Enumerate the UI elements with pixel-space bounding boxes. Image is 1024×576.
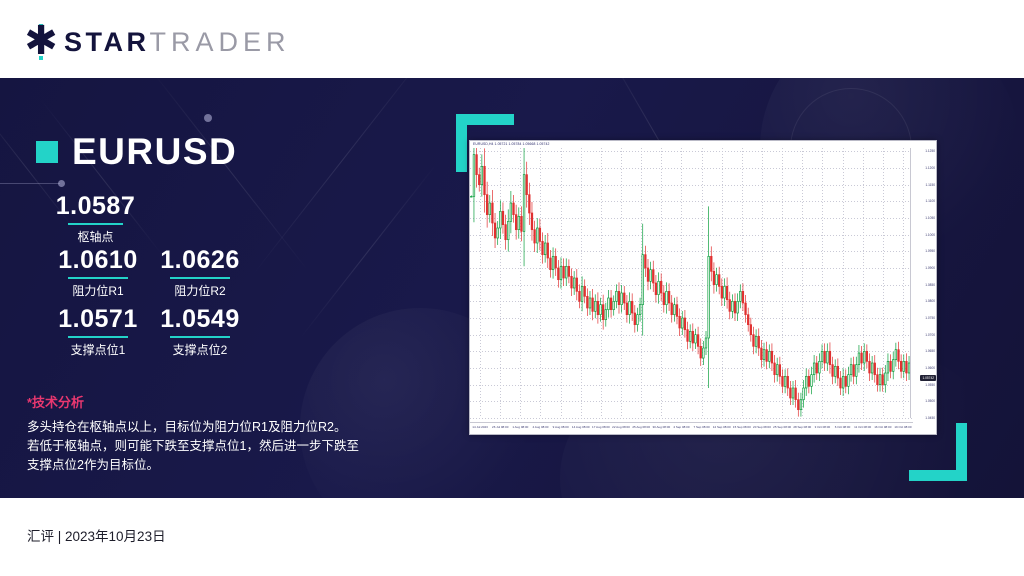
chart-time-tick: 6 Oct 08:00 xyxy=(835,425,851,429)
chart-title: EURUSD,H4 1.05721 1.05784 1.05668 1.0574… xyxy=(473,142,550,146)
chart-time-tick: 25 Sep 08:00 xyxy=(773,425,791,429)
chart-price-tick: 1.0500 xyxy=(925,399,935,403)
decor-streak xyxy=(250,78,435,279)
header-bar: ✱ STAR TRADER xyxy=(0,0,1024,78)
price-chart-window[interactable]: EURUSD,H4 1.05721 1.05784 1.05668 1.0574… xyxy=(469,140,937,435)
asterisk-star-icon: ✱ xyxy=(24,25,58,59)
chart-price-tick: 1.0750 xyxy=(925,316,935,320)
level-s1-value: 1.0571 xyxy=(43,305,153,334)
chart-time-tick: 22 Aug 08:00 xyxy=(612,425,630,429)
analysis-line-3: 支撑点位2作为目标位。 xyxy=(27,456,407,475)
level-support-2: 1.0549 支撑点位2 xyxy=(145,305,255,358)
chart-price-tick: 1.0850 xyxy=(925,283,935,287)
level-underline xyxy=(68,336,128,338)
chart-price-tick: 1.1200 xyxy=(925,166,935,170)
level-r1-label: 阻力位R1 xyxy=(43,282,153,299)
chart-time-tick: 17 Aug 08:00 xyxy=(592,425,610,429)
level-r2-label: 阻力位R2 xyxy=(145,282,255,299)
instrument-heading: EURUSD xyxy=(36,133,237,170)
chart-price-tick: 1.1250 xyxy=(925,149,935,153)
level-pivot-value: 1.0587 xyxy=(38,192,153,221)
chart-time-tick: 4 Sep 08:00 xyxy=(673,425,689,429)
chart-time-tick: 1 Aug 08:00 xyxy=(512,425,528,429)
chart-time-tick: 25 Aug 08:00 xyxy=(632,425,650,429)
chart-price-axis[interactable]: 1.12501.12001.11501.11001.10501.10001.09… xyxy=(910,148,936,418)
chart-price-tick: 1.1000 xyxy=(925,233,935,237)
decor-streak xyxy=(150,78,311,274)
chart-time-tick: 9 Aug 08:00 xyxy=(553,425,569,429)
chart-price-tick: 1.1050 xyxy=(925,216,935,220)
chart-time-tick: 12 Sep 08:00 xyxy=(713,425,731,429)
chart-time-tick: 11 Oct 08:00 xyxy=(854,425,871,429)
chart-time-tick: 14 Jul 2023 xyxy=(472,425,488,429)
decor-dot xyxy=(204,114,212,122)
level-support-1: 1.0571 支撑点位1 xyxy=(43,305,153,358)
chart-time-tick: 16 Oct 08:00 xyxy=(874,425,891,429)
chart-current-price-tag: 1.05742 xyxy=(920,375,936,381)
chart-price-tick: 1.0450 xyxy=(925,416,935,420)
chart-price-tick: 1.0800 xyxy=(925,299,935,303)
chart-time-tick: 20 Sep 08:00 xyxy=(753,425,771,429)
chart-time-tick: 28 Sep 08:00 xyxy=(793,425,811,429)
corner-bracket-bottomright-horizontal xyxy=(909,470,967,481)
decor-hairline xyxy=(0,183,60,184)
chart-gridline-horizontal xyxy=(470,418,913,419)
level-pivot-label: 枢轴点 xyxy=(38,228,153,245)
asterisk-glyph: ✱ xyxy=(24,25,58,59)
level-underline xyxy=(170,336,230,338)
level-r1-value: 1.0610 xyxy=(43,246,153,275)
level-pivot: 1.0587 枢轴点 xyxy=(38,192,153,245)
level-s2-value: 1.0549 xyxy=(145,305,255,334)
level-s1-label: 支撑点位1 xyxy=(43,341,153,358)
chart-time-tick: 19 Oct 08:00 xyxy=(894,425,911,429)
decor-dot xyxy=(58,180,65,187)
analysis-line-2: 若低于枢轴点，则可能下跌至支撑点位1，然后进一步下跌至 xyxy=(27,437,407,456)
chart-time-tick: 30 Aug 08:00 xyxy=(652,425,670,429)
chart-price-tick: 1.0700 xyxy=(925,333,935,337)
chart-price-tick: 1.0650 xyxy=(925,349,935,353)
chart-time-tick: 3 Oct 08:00 xyxy=(815,425,831,429)
chart-time-tick: 7 Sep 08:00 xyxy=(693,425,709,429)
chart-price-tick: 1.1150 xyxy=(925,183,935,187)
chart-price-tick: 1.0950 xyxy=(925,249,935,253)
brand-name-light: TRADER xyxy=(150,27,291,58)
chart-time-tick: 15 Sep 08:00 xyxy=(733,425,751,429)
brand-logo: ✱ STAR TRADER xyxy=(24,26,291,58)
chart-time-tick: 26 Jul 08:00 xyxy=(492,425,508,429)
chart-plot-area[interactable] xyxy=(470,148,913,418)
chart-price-tick: 1.1100 xyxy=(925,199,935,203)
level-underline xyxy=(170,277,230,279)
logo-accent-square-bottom xyxy=(39,56,43,60)
level-s2-label: 支撑点位2 xyxy=(145,341,255,358)
analysis-title: *技术分析 xyxy=(27,392,407,411)
corner-bracket-topleft-horizontal xyxy=(456,114,514,125)
chart-time-tick: 14 Aug 08:00 xyxy=(572,425,590,429)
chart-price-tick: 1.0550 xyxy=(925,383,935,387)
level-resistance-2: 1.0626 阻力位R2 xyxy=(145,246,255,299)
brand-name-bold: STAR xyxy=(64,27,150,58)
instrument-marker-square xyxy=(36,141,58,163)
chart-time-tick: 4 Aug 08:00 xyxy=(532,425,548,429)
chart-price-tick: 1.0600 xyxy=(925,366,935,370)
technical-analysis-block: *技术分析 多头持仓在枢轴点以上，目标位为阻力位R1及阻力位R2。 若低于枢轴点… xyxy=(27,392,407,475)
candlestick-series xyxy=(470,148,913,418)
level-underline xyxy=(68,223,123,225)
level-resistance-1: 1.0610 阻力位R1 xyxy=(43,246,153,299)
level-underline xyxy=(68,277,128,279)
chart-price-tick: 1.0900 xyxy=(925,266,935,270)
poster-root: ✱ STAR TRADER EURUSD xyxy=(0,0,1024,576)
chart-time-axis[interactable]: 14 Jul 202326 Jul 08:001 Aug 08:004 Aug … xyxy=(470,422,913,434)
level-r2-value: 1.0626 xyxy=(145,246,255,275)
footer-caption: 汇评 | 2023年10月23日 xyxy=(27,525,166,545)
instrument-symbol: EURUSD xyxy=(72,133,237,170)
analysis-line-1: 多头持仓在枢轴点以上，目标位为阻力位R1及阻力位R2。 xyxy=(27,418,407,437)
